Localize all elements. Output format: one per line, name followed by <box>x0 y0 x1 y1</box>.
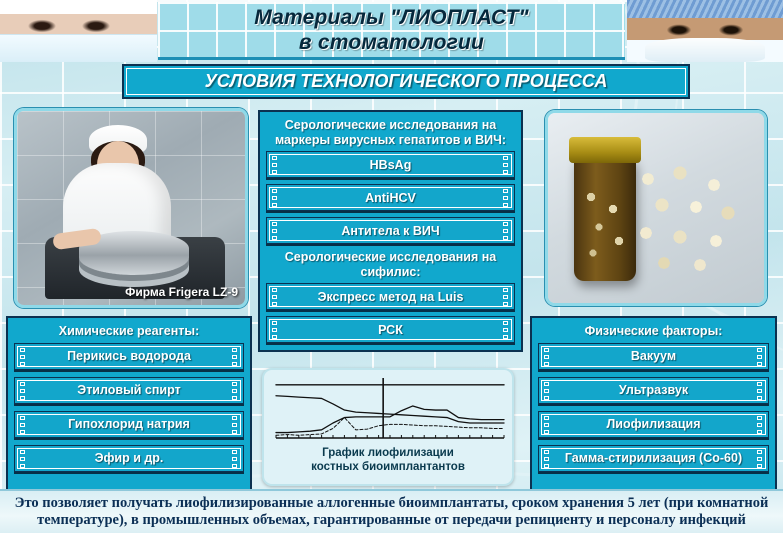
list-item-label: Гипохлорид натрия <box>68 417 190 431</box>
item-squares-right <box>503 288 509 306</box>
item-squares-right <box>232 348 238 366</box>
list-item-label: Антитела к ВИЧ <box>341 224 439 238</box>
masked-worker-illustration <box>0 0 157 62</box>
serology-panel: Серологические исследования на маркеры в… <box>258 110 523 352</box>
item-squares-left <box>272 156 278 174</box>
vial-contents <box>579 183 631 273</box>
list-item-label: РСК <box>378 323 403 337</box>
item-squares-right <box>232 382 238 400</box>
vial-scene <box>548 113 764 303</box>
list-item-lyophilization[interactable]: Лиофилизация <box>538 411 769 438</box>
photo-caption-left: Фирма Frigera LZ-9 <box>125 285 238 299</box>
list-item-antihcv[interactable]: AntiHCV <box>266 184 515 211</box>
footer-text: Это позволяет получать лиофилизированные… <box>6 495 777 529</box>
page-title-line1: Материалы "ЛИОПЛАСТ" <box>254 5 529 30</box>
list-item-label: Перикись водорода <box>67 349 191 363</box>
item-squares-left <box>544 416 550 434</box>
list-item-hbsag[interactable]: HBsAg <box>266 151 515 178</box>
item-squares-right <box>757 416 763 434</box>
glass-vial <box>574 157 636 281</box>
item-squares-left <box>20 348 26 366</box>
chemical-reagents-panel: Химические реагенты: Перикись водорода Э… <box>6 316 252 492</box>
list-item-label: AntiHCV <box>365 191 416 205</box>
item-squares-left <box>20 382 26 400</box>
vial-gold-cap <box>569 137 641 163</box>
header-photo-right <box>627 0 783 62</box>
item-squares-left <box>272 288 278 306</box>
list-item-ether[interactable]: Эфир и др. <box>14 445 244 472</box>
item-squares-right <box>503 189 509 207</box>
list-item-label: Этиловый спирт <box>77 383 180 397</box>
list-item-hiv-antibodies[interactable]: Антитела к ВИЧ <box>266 217 515 244</box>
bone-chips-pile <box>628 161 750 279</box>
chart-caption-line2: костных биоимплантантов <box>270 461 506 474</box>
list-item-label: Экспресс метод на Luis <box>318 290 464 304</box>
item-squares-right <box>503 321 509 339</box>
slide-root: Материалы "ЛИОПЛАСТ" в стоматологии УСЛО… <box>0 0 783 533</box>
item-squares-left <box>544 348 550 366</box>
item-squares-left <box>272 321 278 339</box>
list-item-label: Эфир и др. <box>95 451 164 465</box>
masked-surgeon-illustration <box>627 0 783 62</box>
list-item-sodium-hypochlorite[interactable]: Гипохлорид натрия <box>14 411 244 438</box>
item-squares-right <box>232 450 238 468</box>
item-squares-right <box>503 222 509 240</box>
item-squares-left <box>272 189 278 207</box>
list-item-label: Ультразвук <box>619 383 688 397</box>
header-photo-left <box>0 0 157 62</box>
item-squares-right <box>503 156 509 174</box>
list-item-express-luis[interactable]: Экспресс метод на Luis <box>266 283 515 310</box>
list-item-vacuum[interactable]: Вакуум <box>538 343 769 370</box>
item-squares-right <box>757 382 763 400</box>
item-squares-right <box>757 348 763 366</box>
list-item-hydrogen-peroxide[interactable]: Перикись водорода <box>14 343 244 370</box>
list-item-label: Гамма-стирилизация (Со-60) <box>565 451 742 465</box>
list-item-rsk[interactable]: РСК <box>266 316 515 343</box>
list-item-label: Вакуум <box>631 349 676 363</box>
chemical-reagents-heading: Химические реагенты: <box>14 322 244 343</box>
item-squares-right <box>757 450 763 468</box>
list-item-ethyl-alcohol[interactable]: Этиловый спирт <box>14 377 244 404</box>
item-squares-left <box>544 382 550 400</box>
physical-factors-panel: Физические факторы: Вакуум Ультразвук Ли… <box>530 316 777 492</box>
bone-chips-photo <box>545 110 767 306</box>
item-squares-right <box>232 416 238 434</box>
item-squares-left <box>20 450 26 468</box>
lab-scene <box>17 111 245 305</box>
physical-factors-heading: Физические факторы: <box>538 322 769 343</box>
page-title-line2: в стоматологии <box>299 30 484 55</box>
footer-bar: Это позволяет получать лиофилизированные… <box>0 489 783 533</box>
page-subtitle: УСЛОВИЯ ТЕХНОЛОГИЧЕСКОГО ПРОЦЕССА <box>122 64 690 99</box>
lyophilization-chart-card: График лиофилизации костных биоимплантан… <box>262 368 514 486</box>
list-item-gamma-sterilization[interactable]: Гамма-стирилизация (Со-60) <box>538 445 769 472</box>
page-title: Материалы "ЛИОПЛАСТ" в стоматологии <box>158 2 625 60</box>
item-squares-left <box>272 222 278 240</box>
lyophilization-chart <box>270 374 510 446</box>
syphilis-subheading: Серологические исследования на сифилис: <box>266 250 515 279</box>
item-squares-left <box>544 450 550 468</box>
list-item-ultrasound[interactable]: Ультразвук <box>538 377 769 404</box>
list-item-label: HBsAg <box>370 158 412 172</box>
serology-panel-heading: Серологические исследования на маркеры в… <box>266 116 515 151</box>
chart-caption-line1: График лиофилизации <box>270 447 506 460</box>
lyophilizer-photo: Фирма Frigera LZ-9 <box>14 108 248 308</box>
page-subtitle-text: УСЛОВИЯ ТЕХНОЛОГИЧЕСКОГО ПРОЦЕССА <box>205 71 608 92</box>
item-squares-left <box>20 416 26 434</box>
list-item-label: Лиофилизация <box>606 417 700 431</box>
